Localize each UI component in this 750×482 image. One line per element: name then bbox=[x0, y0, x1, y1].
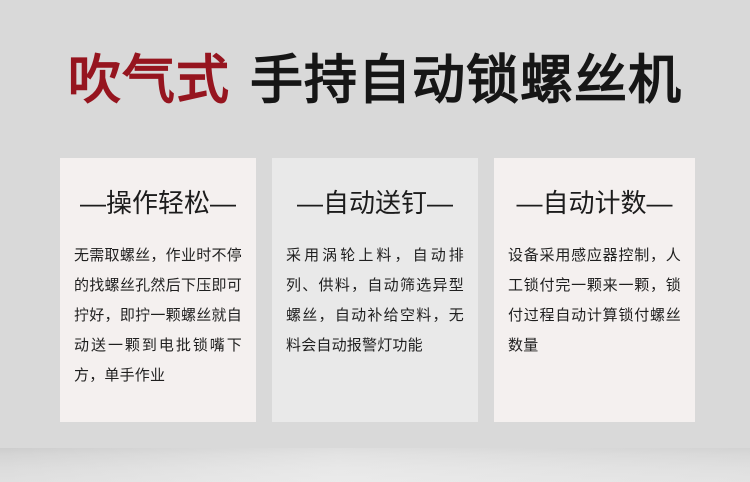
page-title-accent: 吹气式 bbox=[68, 54, 230, 107]
feature-card-heading: —自动计数— bbox=[516, 188, 672, 219]
feature-card-heading: —自动送钉— bbox=[297, 188, 453, 219]
floor-gradient bbox=[0, 448, 750, 482]
feature-card-auto-feed: —自动送钉— 采用涡轮上料，自动排列、供料，自动筛选异型螺丝，自动补给空料，无料… bbox=[272, 158, 478, 422]
feature-card-body: 采用涡轮上料，自动排列、供料，自动筛选异型螺丝，自动补给空料，无料会自动报警灯功… bbox=[282, 241, 468, 361]
feature-card-auto-count: —自动计数— 设备采用感应器控制，人工锁付完一颗来一颗，锁付过程自动计算锁付螺丝… bbox=[494, 158, 695, 422]
feature-card-heading: —操作轻松— bbox=[80, 188, 236, 219]
feature-card-operation-easy: —操作轻松— 无需取螺丝，作业时不停的找螺丝孔然后下压即可拧好，即拧一颗螺丝就自… bbox=[60, 158, 256, 422]
feature-card-body: 设备采用感应器控制，人工锁付完一颗来一颗，锁付过程自动计算锁付螺丝数量 bbox=[508, 241, 681, 361]
floor-sheen bbox=[0, 448, 750, 482]
page-title-main: 手持自动锁螺丝机 bbox=[250, 54, 682, 107]
feature-card-list: —操作轻松— 无需取螺丝，作业时不停的找螺丝孔然后下压即可拧好，即拧一颗螺丝就自… bbox=[60, 158, 695, 422]
promo-banner: 吹气式 手持自动锁螺丝机 —操作轻松— 无需取螺丝，作业时不停的找螺丝孔然后下压… bbox=[0, 0, 750, 482]
feature-card-body: 无需取螺丝，作业时不停的找螺丝孔然后下压即可拧好，即拧一颗螺丝就自动送一颗到电批… bbox=[74, 241, 242, 391]
page-title: 吹气式 手持自动锁螺丝机 bbox=[0, 49, 750, 111]
